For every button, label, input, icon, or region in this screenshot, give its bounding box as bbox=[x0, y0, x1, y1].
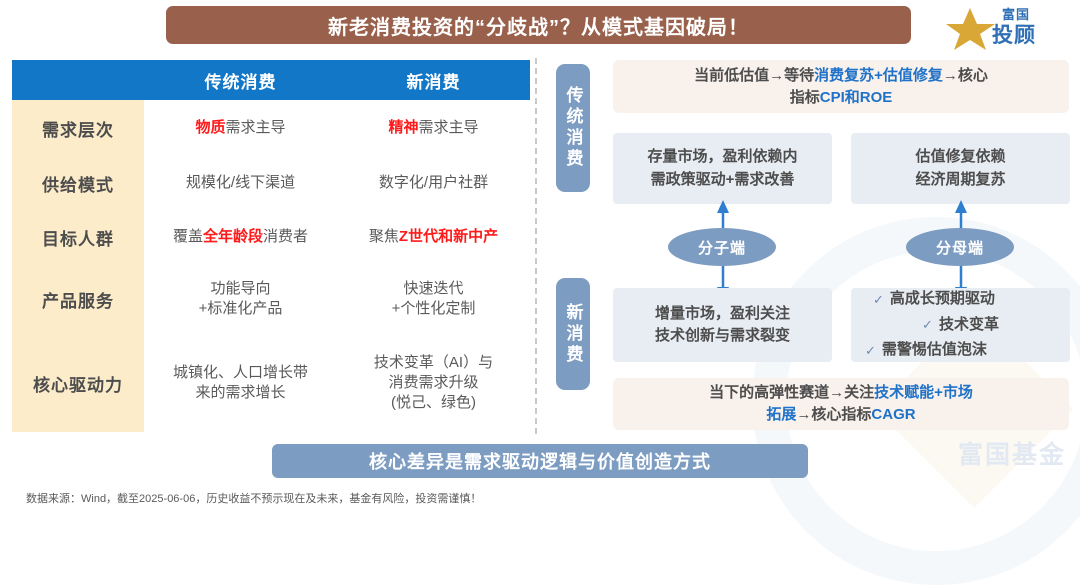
list-item: ✓ 高成长预期驱动 bbox=[859, 288, 1062, 311]
cell-text: 消费者 bbox=[263, 228, 308, 245]
box-traditional-denominator: 估值修复依赖经济周期复苏 bbox=[851, 133, 1070, 204]
pill-denominator: 分母端 bbox=[906, 228, 1014, 266]
table-cell: 技术变革（AI）与消费需求升级(悦己、绿色) bbox=[337, 334, 530, 432]
list-item-label: 技术变革 bbox=[939, 314, 999, 337]
callout-text: 当下的高弹性赛道→关注 bbox=[709, 384, 874, 401]
highlight-text: 精神 bbox=[388, 119, 418, 136]
cell-line: 来的需求增长 bbox=[195, 384, 285, 401]
table-body: 需求层次 供给模式 目标人群 产品服务 核心驱动力 物质需求主导 规模化/线下渠… bbox=[12, 100, 530, 432]
box-new-denominator: ✓ 高成长预期驱动 ✓ 技术变革 ✓ 需警惕估值泡沫 bbox=[851, 288, 1070, 362]
table-cell: 聚焦Z世代和新中产 bbox=[337, 210, 530, 264]
table-header-spacer bbox=[12, 60, 144, 100]
watermark-brand-text: 富国基金 bbox=[958, 435, 1066, 471]
page-title-text: 新老消费投资的“分歧战”？从模式基因破局！ bbox=[328, 11, 749, 40]
callout-text: 指标 bbox=[790, 89, 820, 106]
cell-text: 覆盖 bbox=[173, 228, 203, 245]
table-row-label: 需求层次 bbox=[12, 100, 144, 156]
callout-traditional: 当前低估值→等待消费复苏+估值修复→核心指标CPI和ROE bbox=[613, 60, 1069, 113]
page-title: 新老消费投资的“分歧战”？从模式基因破局！ bbox=[166, 6, 911, 44]
callout-highlight: 消费复苏+估值修复 bbox=[814, 67, 943, 84]
cell-text: 聚焦 bbox=[369, 228, 399, 245]
callout-highlight: 拓展 bbox=[766, 406, 796, 423]
cell-line: +个性化定制 bbox=[392, 300, 476, 317]
table-cell: 快速迭代+个性化定制 bbox=[337, 264, 530, 334]
cell-line: +标准化产品 bbox=[199, 300, 283, 317]
pill-numerator: 分子端 bbox=[668, 228, 776, 266]
list-item: ✓ 技术变革 bbox=[859, 314, 1062, 337]
callout-highlight: CPI和ROE bbox=[820, 89, 893, 106]
infographic-canvas: 富国基金 新老消费投资的“分歧战”？从模式基因破局！ 富国 投顾 传统消费 新消… bbox=[0, 0, 1080, 515]
brand-line-2: 投顾 bbox=[992, 19, 1036, 49]
table-cell: 功能导向+标准化产品 bbox=[144, 264, 337, 334]
cell-line: 城镇化、人口增长带 bbox=[173, 364, 308, 381]
cell-line: 技术变革（AI）与 bbox=[374, 354, 493, 371]
table-row-label: 产品服务 bbox=[12, 264, 144, 334]
highlight-text: Z世代和新中产 bbox=[399, 228, 498, 245]
box-line: 经济周期复苏 bbox=[915, 171, 1005, 188]
summary-banner-text: 核心差异是需求驱动逻辑与价值创造方式 bbox=[369, 448, 711, 474]
vertical-tab-new: 新消费 bbox=[556, 278, 590, 390]
callout-text: →核心指标 bbox=[796, 406, 871, 423]
box-line: 估值修复依赖 bbox=[915, 148, 1005, 165]
table-row-label: 核心驱动力 bbox=[12, 334, 144, 432]
table-label-column: 需求层次 供给模式 目标人群 产品服务 核心驱动力 bbox=[12, 100, 144, 432]
table-header-traditional: 传统消费 bbox=[144, 60, 337, 100]
callout-text: 当前低估值→等待 bbox=[694, 67, 814, 84]
callout-highlight: CAGR bbox=[871, 406, 915, 423]
cell-line: 快速迭代 bbox=[403, 280, 463, 297]
box-line: 需政策驱动+需求改善 bbox=[651, 171, 795, 188]
highlight-text: 物质 bbox=[195, 119, 225, 136]
table-row-label: 目标人群 bbox=[12, 210, 144, 264]
list-item-label: 需警惕估值泡沫 bbox=[882, 339, 987, 362]
check-icon: ✓ bbox=[865, 341, 876, 361]
table-cell: 规模化/线下渠道 bbox=[144, 156, 337, 210]
box-traditional-numerator: 存量市场，盈利依赖内需政策驱动+需求改善 bbox=[613, 133, 832, 204]
check-icon: ✓ bbox=[873, 290, 884, 310]
box-new-numerator: 增量市场，盈利关注技术创新与需求裂变 bbox=[613, 288, 832, 362]
table-traditional-column: 物质需求主导 规模化/线下渠道 覆盖全年龄段消费者 功能导向+标准化产品 城镇化… bbox=[144, 100, 337, 432]
table-header-new: 新消费 bbox=[337, 60, 530, 100]
callout-new: 当下的高弹性赛道→关注技术赋能+市场拓展→核心指标CAGR bbox=[613, 378, 1069, 430]
table-cell: 覆盖全年龄段消费者 bbox=[144, 210, 337, 264]
cell-line: 功能导向 bbox=[210, 280, 270, 297]
vertical-tab-label: 传统消费 bbox=[561, 86, 586, 170]
comparison-table: 传统消费 新消费 需求层次 供给模式 目标人群 产品服务 核心驱动力 物质需求主… bbox=[12, 60, 530, 432]
cell-text: 需求主导 bbox=[419, 119, 479, 136]
callout-highlight: 技术赋能+市场 bbox=[874, 384, 973, 401]
brand-logo: 富国 投顾 bbox=[946, 2, 1072, 50]
pill-label: 分母端 bbox=[936, 237, 984, 258]
table-cell: 城镇化、人口增长带来的需求增长 bbox=[144, 334, 337, 432]
source-footnote: 数据来源：Wind，截至2025-06-06，历史收益不预示现在及未来，基金有风… bbox=[26, 490, 481, 506]
table-cell: 数字化/用户社群 bbox=[337, 156, 530, 210]
vertical-tab-label: 新消费 bbox=[561, 303, 586, 366]
cell-line: 消费需求升级 bbox=[388, 374, 478, 391]
check-icon: ✓ bbox=[922, 315, 933, 335]
cell-text: 需求主导 bbox=[226, 119, 286, 136]
highlight-text: 全年龄段 bbox=[203, 228, 263, 245]
table-cell: 精神需求主导 bbox=[337, 100, 530, 156]
table-header-row: 传统消费 新消费 bbox=[12, 60, 530, 100]
panel-divider bbox=[535, 58, 537, 434]
list-item: ✓ 需警惕估值泡沫 bbox=[859, 339, 1062, 362]
list-item-label: 高成长预期驱动 bbox=[890, 288, 995, 311]
callout-text: →核心 bbox=[943, 67, 988, 84]
cell-line: (悦己、绿色) bbox=[391, 394, 476, 411]
pill-label: 分子端 bbox=[698, 237, 746, 258]
vertical-tab-traditional: 传统消费 bbox=[556, 64, 590, 192]
box-line: 技术创新与需求裂变 bbox=[655, 327, 790, 344]
star-icon bbox=[946, 6, 998, 50]
table-row-label: 供给模式 bbox=[12, 156, 144, 210]
box-line: 存量市场，盈利依赖内 bbox=[647, 148, 797, 165]
checklist: ✓ 高成长预期驱动 ✓ 技术变革 ✓ 需警惕估值泡沫 bbox=[859, 288, 1062, 362]
table-cell: 物质需求主导 bbox=[144, 100, 337, 156]
table-new-column: 精神需求主导 数字化/用户社群 聚焦Z世代和新中产 快速迭代+个性化定制 技术变… bbox=[337, 100, 530, 432]
box-line: 增量市场，盈利关注 bbox=[655, 305, 790, 322]
summary-banner: 核心差异是需求驱动逻辑与价值创造方式 bbox=[272, 444, 808, 478]
